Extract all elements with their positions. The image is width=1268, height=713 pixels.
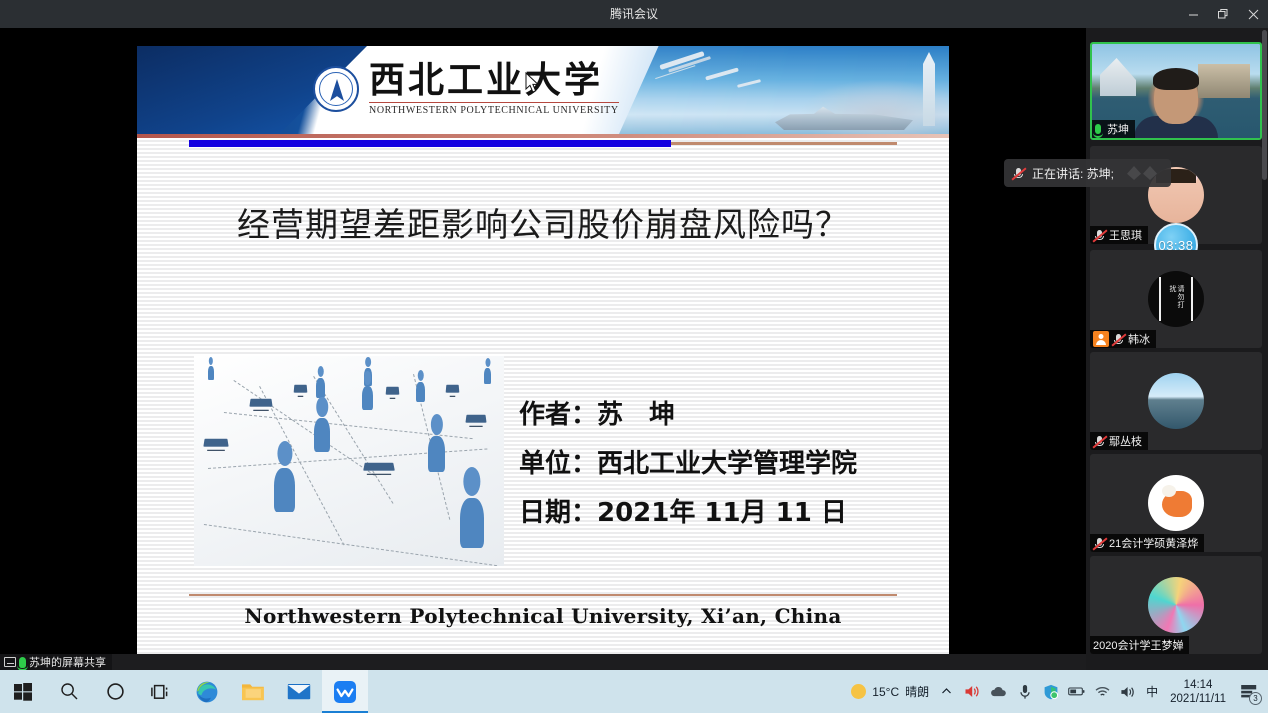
participant-label: 王思琪: [1090, 226, 1148, 244]
ime-indicator[interactable]: 中: [1146, 683, 1158, 700]
participant-label: 韩冰: [1090, 330, 1156, 348]
date-line: 日期：2021年 11月 11 日: [519, 489, 939, 538]
share-status-bar: 苏坤的屏幕共享: [0, 654, 1086, 670]
task-view-icon[interactable]: [138, 670, 184, 713]
author-line: 作者：苏 坤: [519, 391, 939, 440]
university-seal-icon: [313, 66, 359, 112]
mic-muted-icon: [1012, 167, 1025, 180]
affiliation-line: 单位：西北工业大学管理学院: [519, 440, 939, 489]
speaker-hair: [1153, 68, 1199, 90]
avatar-text: 请勿打扰: [1168, 285, 1184, 313]
avatar: [1148, 373, 1204, 429]
avatar: [1148, 577, 1204, 633]
participant-tile-su-kun[interactable]: 苏坤: [1090, 42, 1262, 140]
participant-rail-scrollbar[interactable]: [1262, 30, 1267, 180]
mic-muted-icon: [1093, 229, 1106, 242]
start-button[interactable]: [0, 670, 46, 713]
participant-label: 21会计学硕黄泽烨: [1090, 534, 1204, 552]
fighter-jet-icon: [737, 79, 761, 88]
participant-label: 鄢丛枝: [1090, 432, 1148, 450]
notification-icon[interactable]: 3: [1238, 681, 1260, 703]
campus-building: [1198, 64, 1250, 98]
clock[interactable]: 14:14 2021/11/11: [1167, 678, 1229, 706]
participant-name: 苏坤: [1107, 121, 1129, 137]
participant-label: 2020会计学王梦婵: [1090, 636, 1189, 654]
windows-taskbar: 15°C 晴朗: [0, 670, 1268, 713]
banner-rule: [137, 134, 949, 138]
share-status-pill: 苏坤的屏幕共享: [0, 654, 112, 670]
mic-muted-icon: [1112, 333, 1125, 346]
speaking-toast-text: 正在讲话: 苏坤;: [1032, 165, 1114, 182]
slide-network-image: [194, 356, 504, 566]
window-title: 腾讯会议: [0, 0, 1268, 28]
participant-label: 苏坤: [1092, 120, 1135, 138]
shared-screen-stage[interactable]: 西北工业大学 NORTHWESTERN POLYTECHNICAL UNIVER…: [0, 28, 1086, 670]
volume-icon[interactable]: [1120, 683, 1137, 700]
slide-footer: Northwestern Polytechnical University, X…: [137, 604, 949, 628]
restore-button[interactable]: [1208, 0, 1238, 28]
host-badge-icon: [1093, 331, 1109, 347]
taskbar-items: [0, 670, 368, 713]
banner-blue-bar: [189, 140, 671, 147]
file-explorer-icon[interactable]: [230, 670, 276, 713]
slide-banner: 西北工业大学 NORTHWESTERN POLYTECHNICAL UNIVER…: [137, 46, 949, 134]
sun-icon: [851, 684, 866, 699]
battery-icon[interactable]: [1068, 683, 1085, 700]
banner-photo-collage: [619, 46, 949, 134]
presentation-slide: 西北工业大学 NORTHWESTERN POLYTECHNICAL UNIVER…: [137, 46, 949, 656]
close-button[interactable]: [1238, 0, 1268, 28]
mic-on-icon: [1095, 124, 1101, 134]
participant-name: 王思琪: [1109, 227, 1142, 243]
participant-name: 21会计学硕黄泽烨: [1109, 535, 1198, 551]
university-logo: 西北工业大学 NORTHWESTERN POLYTECHNICAL UNIVER…: [313, 62, 619, 116]
speaking-toast: 正在讲话: 苏坤;: [1004, 159, 1171, 187]
fighter-jet-icon: [705, 67, 739, 80]
title-bar: 腾讯会议: [0, 0, 1268, 28]
microphone-icon[interactable]: [1016, 683, 1033, 700]
weather-widget[interactable]: 15°C 晴朗: [851, 683, 929, 700]
campus-building: [1100, 58, 1136, 96]
slide-title: 经营期望差距影响公司股价崩盘风险吗？: [137, 198, 949, 246]
weather-description: 晴朗: [905, 683, 929, 700]
mic-muted-icon: [1093, 537, 1106, 550]
participant-tile-yan-congzhi[interactable]: 鄢丛枝: [1090, 352, 1262, 450]
mail-icon[interactable]: [276, 670, 322, 713]
chevron-up-icon[interactable]: [938, 683, 955, 700]
participant-tile-wang-mengchan[interactable]: 2020会计学王梦婵: [1090, 556, 1262, 654]
window-controls: [1178, 0, 1268, 28]
speaker-muted-icon[interactable]: [964, 683, 981, 700]
footer-rule: [189, 594, 897, 596]
share-status-label: 苏坤的屏幕共享: [29, 654, 106, 670]
tencent-meeting-window: 腾讯会议: [0, 0, 1268, 713]
university-name-en: NORTHWESTERN POLYTECHNICAL UNIVERSITY: [369, 102, 619, 116]
naval-ship-icon: [769, 104, 919, 130]
participant-name: 韩冰: [1128, 331, 1150, 347]
system-tray: 15°C 晴朗: [851, 670, 1268, 713]
banner-tan-bar: [671, 142, 897, 145]
tencent-meeting-watermark-icon: [1127, 166, 1157, 180]
notification-count: 3: [1249, 692, 1262, 705]
mic-on-icon: [19, 657, 26, 668]
wifi-icon[interactable]: [1094, 683, 1111, 700]
onedrive-cloud-icon[interactable]: [990, 683, 1007, 700]
slide-info-block: 作者：苏 坤 单位：西北工业大学管理学院 日期：2021年 11月 11 日: [519, 391, 939, 538]
participant-tile-han-bing[interactable]: 请勿打扰 韩冰: [1090, 250, 1262, 348]
university-name-cn: 西北工业大学: [369, 62, 619, 98]
tencent-meeting-icon[interactable]: [322, 670, 368, 713]
fighter-jet-icon: [659, 51, 704, 70]
weather-temperature: 15°C: [872, 685, 899, 699]
participant-tile-huang-zeye[interactable]: 21会计学硕黄泽烨: [1090, 454, 1262, 552]
screen-share-icon: [4, 657, 16, 667]
cortana-icon[interactable]: [92, 670, 138, 713]
clock-time: 14:14: [1170, 678, 1226, 692]
participant-name: 鄢丛枝: [1109, 433, 1142, 449]
mic-muted-icon: [1093, 435, 1106, 448]
participant-rail[interactable]: 苏坤 王思琪 03:38 请: [1086, 28, 1268, 670]
minimize-button[interactable]: [1178, 0, 1208, 28]
search-icon[interactable]: [46, 670, 92, 713]
avatar: [1148, 475, 1204, 531]
participant-name: 2020会计学王梦婵: [1093, 637, 1183, 653]
edge-browser-icon[interactable]: [184, 670, 230, 713]
clock-date: 2021/11/11: [1170, 692, 1226, 706]
security-shield-icon[interactable]: [1042, 683, 1059, 700]
avatar: 请勿打扰: [1148, 271, 1204, 327]
rocket-icon: [923, 52, 935, 126]
